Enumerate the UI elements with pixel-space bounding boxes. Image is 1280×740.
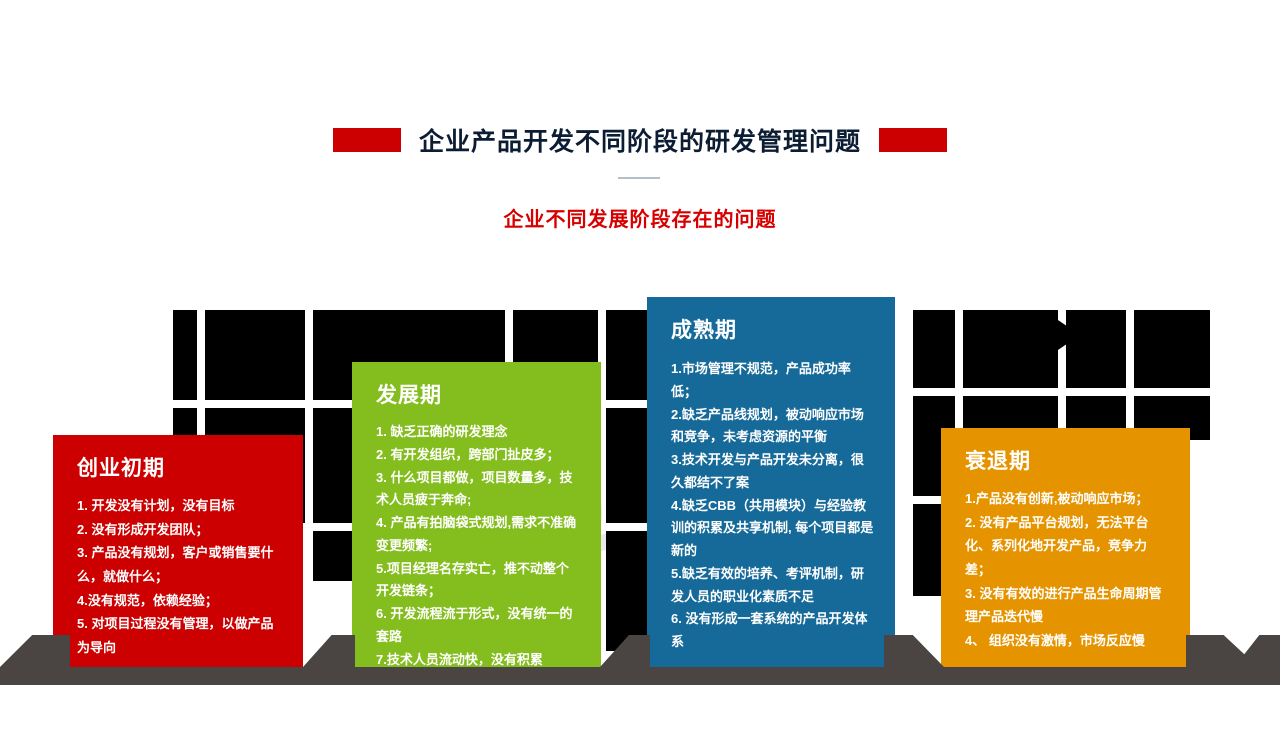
list-item: 5. 对项目过程没有管理，以做产品为导向 bbox=[77, 612, 283, 659]
decor-arrow-icon bbox=[347, 322, 373, 358]
platform-leg bbox=[0, 635, 70, 667]
platform-base-bar bbox=[0, 667, 1280, 685]
list-item: 2. 没有形成开发团队； bbox=[77, 518, 283, 542]
list-item: 3. 什么项目都做，项目数量多，技术人员疲于奔命; bbox=[376, 467, 581, 513]
list-item: 1. 缺乏正确的研发理念 bbox=[376, 421, 581, 444]
decor-block bbox=[205, 310, 305, 400]
stage-card-list: 1. 缺乏正确的研发理念 2. 有开发组织，跨部门扯皮多； 3. 什么项目都做，… bbox=[376, 421, 581, 670]
stage-card-list: 1. 开发没有计划，没有目标 2. 没有形成开发团队； 3. 产品没有规划，客户… bbox=[77, 494, 283, 660]
list-item: 3. 没有有效的进行产品生命周期管理产品迭代慢 bbox=[965, 582, 1170, 629]
list-item: 4、 组织没有激情，市场反应慢 bbox=[965, 629, 1170, 653]
list-item: 3.技术开发与产品开发未分离，很久都结不了案 bbox=[671, 449, 875, 495]
list-item: 2. 有开发组织，跨部门扯皮多； bbox=[376, 444, 581, 467]
list-item: 2.缺乏产品线规划，被动响应市场和竞争，未考虑资源的平衡 bbox=[671, 404, 875, 450]
decor-block bbox=[963, 310, 1058, 388]
stage-card-title: 创业初期 bbox=[77, 457, 283, 480]
stage-card-startup[interactable]: 创业初期 1. 开发没有计划，没有目标 2. 没有形成开发团队； 3. 产品没有… bbox=[53, 435, 303, 670]
decor-block-cluster-farright bbox=[1090, 310, 1210, 440]
list-item: 5.缺乏有效的培养、考评机制，研发人员的职业化素质不足 bbox=[671, 563, 875, 609]
title-accent-bar-right bbox=[879, 128, 947, 152]
slide-title-row: 企业产品开发不同阶段的研发管理问题 bbox=[0, 120, 1280, 160]
decor-block bbox=[1090, 310, 1126, 388]
decor-block bbox=[606, 408, 650, 523]
decor-block bbox=[913, 310, 955, 388]
title-accent-bar-left bbox=[333, 128, 401, 152]
list-item: 2. 没有产品平台规划，无法平台化、系列化地开发产品，竞争力差； bbox=[965, 511, 1170, 582]
stage-card-list: 1.产品没有创新,被动响应市场； 2. 没有产品平台规划，无法平台化、系列化地开… bbox=[965, 487, 1170, 653]
decor-block bbox=[173, 310, 197, 400]
slide-canvas: 企业产品开发不同阶段的研发管理问题 企业不同发展阶段存在的问题 远大 bbox=[0, 0, 1280, 740]
title-divider bbox=[618, 177, 660, 179]
list-item: 1.产品没有创新,被动响应市场； bbox=[965, 487, 1170, 511]
list-item: 1.市场管理不规范，产品成功率低； bbox=[671, 358, 875, 404]
page-title: 企业产品开发不同阶段的研发管理问题 bbox=[419, 122, 861, 158]
list-item: 6. 开发流程流于形式，没有统一的套路 bbox=[376, 603, 581, 649]
stage-card-title: 衰退期 bbox=[965, 450, 1170, 473]
stage-card-growth[interactable]: 发展期 1. 缺乏正确的研发理念 2. 有开发组织，跨部门扯皮多； 3. 什么项… bbox=[352, 362, 601, 670]
decor-block bbox=[606, 531, 650, 651]
stage-card-title: 发展期 bbox=[376, 384, 581, 407]
decor-block bbox=[1134, 310, 1210, 388]
decor-block bbox=[606, 310, 650, 400]
stage-card-decline[interactable]: 衰退期 1.产品没有创新,被动响应市场； 2. 没有产品平台规划，无法平台化、系… bbox=[941, 428, 1190, 670]
list-item: 1. 开发没有计划，没有目标 bbox=[77, 494, 283, 518]
list-item: 3. 产品没有规划，客户或销售要什么，就做什么； bbox=[77, 541, 283, 588]
list-item: 4. 产品有拍脑袋式规划,需求不准确变更频繁; bbox=[376, 512, 581, 558]
list-item: 4.缺乏CBB（共用模块）与经验教训的积累及共享机制, 每个项目都是新的 bbox=[671, 495, 875, 563]
platform-leg bbox=[303, 635, 355, 667]
list-item: 6. 没有形成一套系统的产品开发体系 bbox=[671, 608, 875, 654]
stage-card-list: 1.市场管理不规范，产品成功率低； 2.缺乏产品线规划，被动响应市场和竞争，未考… bbox=[671, 358, 875, 654]
stage-card-title: 成熟期 bbox=[671, 319, 875, 342]
list-item: 4.没有规范，依赖经验； bbox=[77, 589, 283, 613]
platform-leg bbox=[1186, 635, 1280, 667]
decor-arrow-icon bbox=[1055, 318, 1080, 352]
list-item: 5.项目经理名存实亡，推不动整个开发链条； bbox=[376, 558, 581, 604]
stage-card-mature[interactable]: 成熟期 1.市场管理不规范，产品成功率低； 2.缺乏产品线规划，被动响应市场和竞… bbox=[647, 297, 895, 670]
page-subtitle: 企业不同发展阶段存在的问题 bbox=[0, 203, 1280, 232]
